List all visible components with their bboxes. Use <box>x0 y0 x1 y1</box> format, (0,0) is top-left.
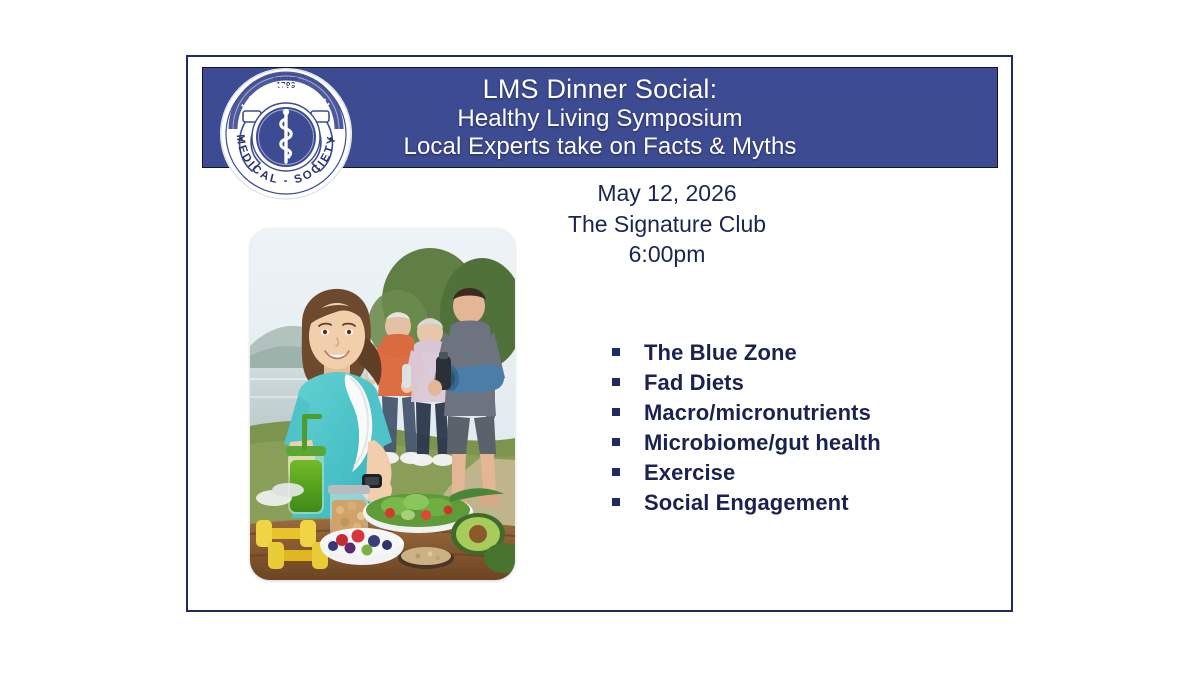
event-time: 6:00pm <box>487 239 847 270</box>
event-date: May 12, 2026 <box>487 178 847 209</box>
topic-label: Exercise <box>644 460 735 486</box>
square-bullet-icon <box>612 348 620 356</box>
topic-label: Fad Diets <box>644 370 744 396</box>
flyer-slide: LMS Dinner Social: Healthy Living Sympos… <box>0 0 1200 675</box>
list-item: Macro/micronutrients <box>612 400 992 425</box>
list-item: Fad Diets <box>612 370 992 395</box>
square-bullet-icon <box>612 408 620 416</box>
topic-label: Microbiome/gut health <box>644 430 881 456</box>
square-bullet-icon <box>612 468 620 476</box>
topic-label: Macro/micronutrients <box>644 400 871 426</box>
square-bullet-icon <box>612 378 620 386</box>
healthy-lifestyle-photo <box>250 228 515 580</box>
topic-label: Social Engagement <box>644 490 849 516</box>
list-item: Microbiome/gut health <box>612 430 992 455</box>
list-item: Exercise <box>612 460 992 485</box>
event-details: May 12, 2026 The Signature Club 6:00pm <box>487 178 847 270</box>
topics-list: The Blue Zone Fad Diets Macro/micronutri… <box>612 340 992 520</box>
list-item: The Blue Zone <box>612 340 992 365</box>
list-item: Social Engagement <box>612 490 992 515</box>
event-venue: The Signature Club <box>487 209 847 240</box>
lexington-medical-society-logo: FOUNDED 1799 LEXINGTON <box>219 67 353 201</box>
square-bullet-icon <box>612 498 620 506</box>
topic-label: The Blue Zone <box>644 340 797 366</box>
square-bullet-icon <box>612 438 620 446</box>
